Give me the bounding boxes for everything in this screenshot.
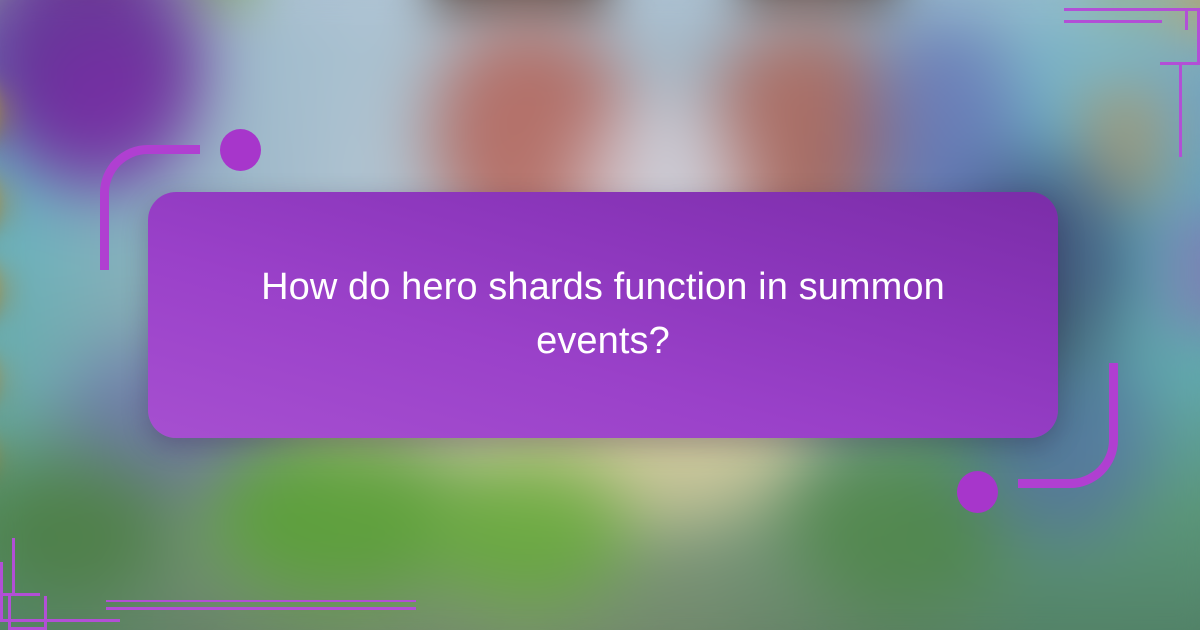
frame-corner-bottom-left (0, 593, 40, 596)
question-text: How do hero shards function in summon ev… (253, 261, 953, 369)
frame-corner-top-right (1179, 62, 1182, 157)
decorative-dot-top (220, 129, 261, 171)
frame-corner-bottom-left (0, 562, 3, 622)
frame-corner-top-right (1064, 8, 1200, 11)
question-card: How do hero shards function in summon ev… (148, 192, 1058, 438)
frame-corner-bottom-left (0, 619, 120, 622)
frame-corner-bottom-left (8, 596, 11, 630)
frame-corner-bottom-left (44, 596, 47, 630)
screenshot-canvas: How do hero shards function in summon ev… (0, 0, 1200, 630)
frame-corner-top-right (1064, 20, 1162, 23)
frame-corner-top-right (1185, 8, 1188, 30)
frame-corner-bottom-left (106, 607, 416, 610)
frame-corner-bottom-left (12, 538, 15, 596)
frame-corner-bottom-left (106, 600, 416, 602)
decorative-dot-bottom (957, 471, 998, 513)
